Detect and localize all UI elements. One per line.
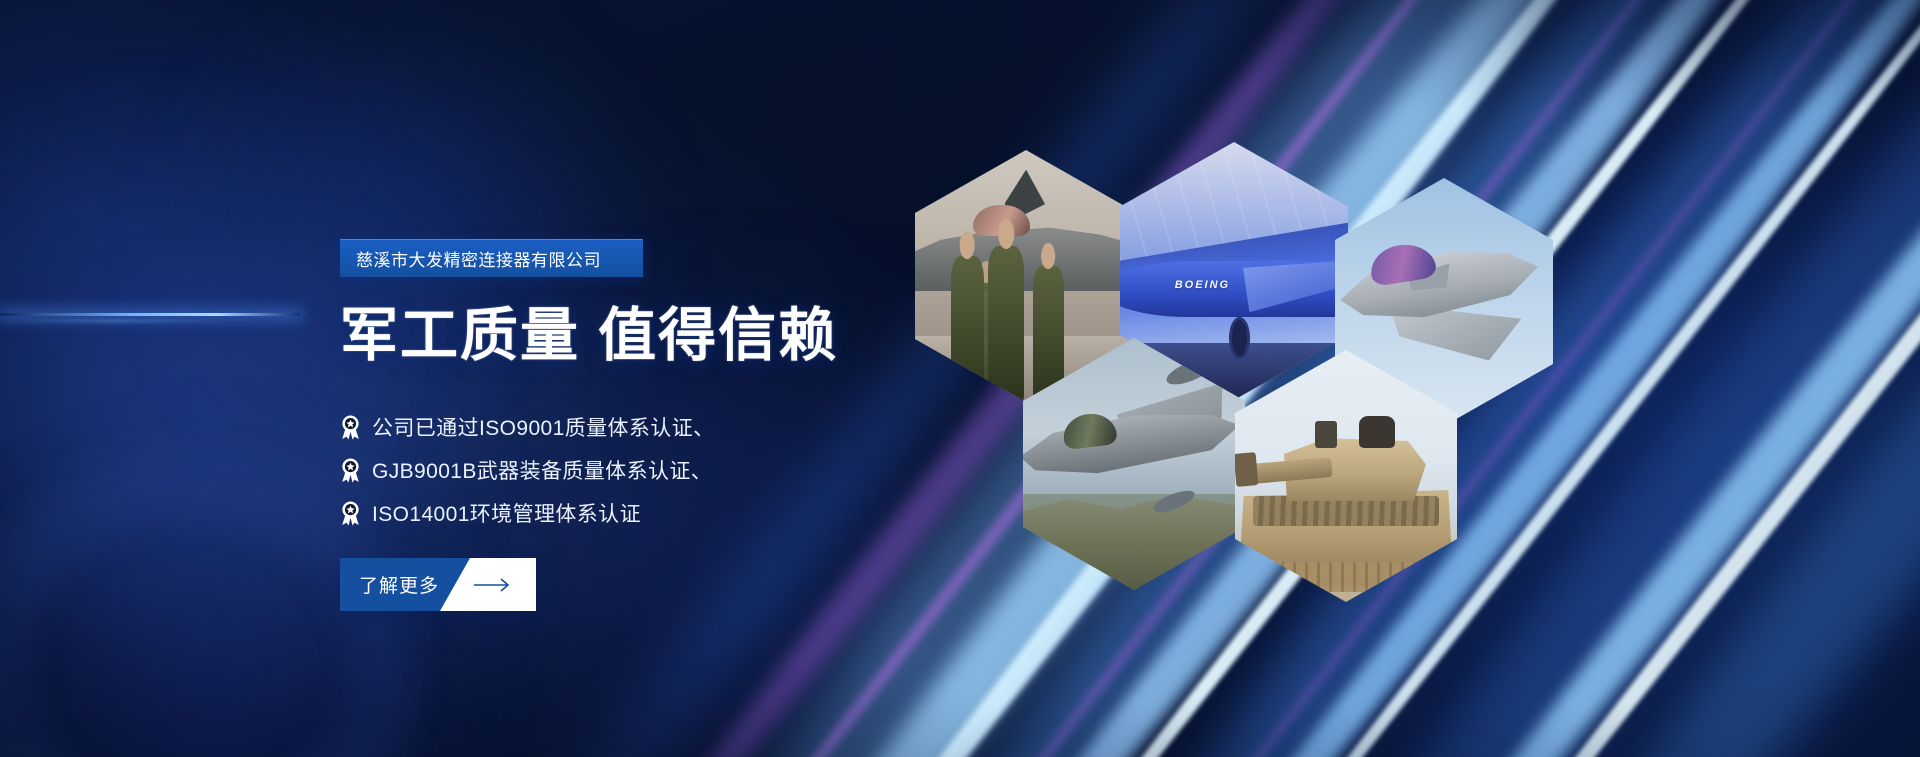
horizontal-light-streak [0, 313, 300, 316]
medal-icon [340, 415, 361, 440]
certification-label: 公司已通过ISO9001质量体系认证、 [372, 412, 715, 442]
arrow-right-icon [474, 558, 514, 611]
hex-battle-tank[interactable] [1235, 350, 1457, 602]
certification-item: ISO14001环境管理体系认证 [340, 491, 715, 534]
certification-list: 公司已通过ISO9001质量体系认证、 GJB9001B武器装备质量体系认证、 … [340, 405, 715, 534]
learn-more-button[interactable]: 了解更多 [340, 558, 536, 611]
page-title: 军工质量 值得信赖 [340, 303, 838, 370]
company-name-label: 慈溪市大发精密连接器有限公司 [356, 246, 601, 271]
hex-mirage-fighter[interactable] [1023, 338, 1245, 590]
hexagon-image-cluster: BOEING [915, 150, 1615, 620]
certification-item: GJB9001B武器装备质量体系认证、 [340, 448, 715, 491]
company-name-badge: 慈溪市大发精密连接器有限公司 [340, 239, 643, 277]
medal-icon [340, 458, 361, 483]
certification-label: ISO14001环境管理体系认证 [372, 498, 641, 528]
boeing-wordmark: BOEING [1175, 279, 1230, 291]
learn-more-label: 了解更多 [359, 558, 439, 611]
medal-icon [340, 501, 361, 526]
horizontal-light-streak-glow [0, 320, 230, 322]
certification-label: GJB9001B武器装备质量体系认证、 [372, 455, 712, 485]
hero-banner: 慈溪市大发精密连接器有限公司 军工质量 值得信赖 公司已通过ISO9001质量体… [0, 0, 1920, 757]
certification-item: 公司已通过ISO9001质量体系认证、 [340, 405, 715, 448]
